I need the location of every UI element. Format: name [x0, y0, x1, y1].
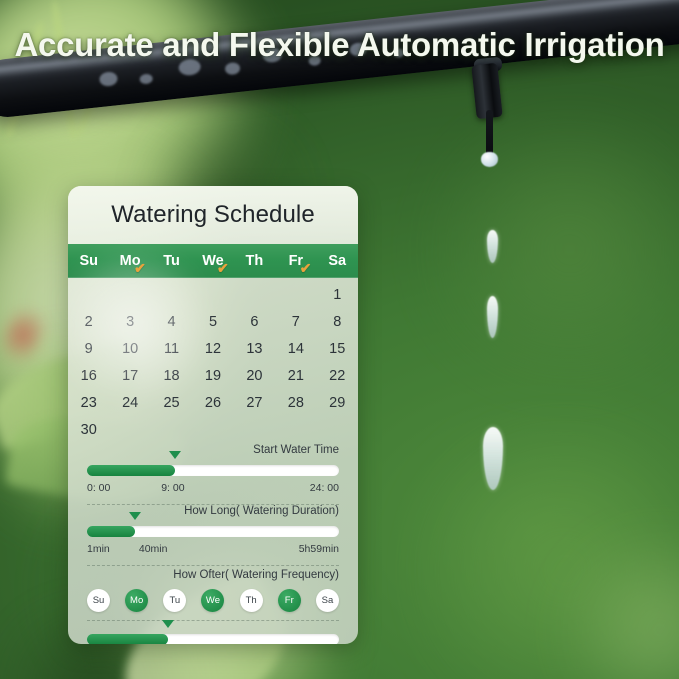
screenshot-root: Accurate and Flexible Automatic Irrigati… [0, 0, 679, 679]
calendar-day-empty [151, 417, 192, 444]
calendar-day[interactable]: 17 [109, 363, 150, 390]
watering-duration-label: How Long( Watering Duration) [87, 505, 339, 519]
calendar-day[interactable]: 6 [234, 309, 275, 336]
weekday-cell[interactable]: Sa [317, 244, 358, 278]
weekday-cell[interactable]: Tu [151, 244, 192, 278]
foliage-blur-8 [420, 120, 679, 380]
calendar-day-empty [234, 417, 275, 444]
dripper-stem [486, 110, 493, 158]
calendar-day[interactable]: 14 [275, 336, 316, 363]
slider-track[interactable] [87, 634, 339, 644]
calendar-row: 16171819202122 [68, 363, 358, 390]
check-icon: ✔ [300, 260, 312, 277]
tick-value: 40min [139, 543, 168, 555]
start-water-time-slider[interactable] [87, 460, 339, 482]
calendar-day-empty [109, 282, 150, 309]
calendar-day[interactable]: 24 [109, 390, 150, 417]
watering-interval-section: Every 1 Day Every 2 Days Every 7 Days [68, 621, 358, 644]
weekday-label: Tu [163, 253, 180, 269]
calendar-day[interactable]: 15 [317, 336, 358, 363]
card-title: Watering Schedule [111, 201, 315, 229]
calendar-day[interactable]: 23 [68, 390, 109, 417]
frequency-day-mo[interactable]: Mo [125, 589, 148, 612]
weekday-cell[interactable]: Mo✔ [109, 244, 150, 278]
tick-value: 9: 00 [161, 482, 184, 494]
watering-interval-slider[interactable] [87, 629, 339, 644]
slider-track[interactable] [87, 465, 339, 476]
calendar-row: 30 [68, 417, 358, 444]
watering-schedule-card: Watering Schedule SuMo✔TuWe✔ThFr✔Sa 1234… [68, 186, 358, 644]
section-divider [87, 565, 339, 566]
start-water-time-ticks: 0: 00 9: 00 24: 00 [87, 482, 339, 498]
card-header: Watering Schedule [68, 186, 358, 244]
calendar-day-empty [192, 417, 233, 444]
weekday-cell[interactable]: We✔ [192, 244, 233, 278]
calendar-row: 2345678 [68, 309, 358, 336]
frequency-day-tu[interactable]: Tu [163, 589, 186, 612]
watering-duration-ticks: 1min 40min 5h59min [87, 543, 339, 559]
weekday-cell[interactable]: Su [68, 244, 109, 278]
calendar-day-empty [275, 417, 316, 444]
calendar-day[interactable]: 8 [317, 309, 358, 336]
slider-marker-icon[interactable] [129, 512, 141, 520]
weekday-label: Sa [328, 253, 346, 269]
calendar-day[interactable]: 27 [234, 390, 275, 417]
tick-max: 5h59min [299, 543, 339, 555]
calendar-day[interactable]: 5 [192, 309, 233, 336]
calendar-day[interactable]: 13 [234, 336, 275, 363]
slider-track[interactable] [87, 526, 339, 537]
calendar-day-empty [234, 282, 275, 309]
calendar-row: 1 [68, 282, 358, 309]
slider-fill [87, 634, 168, 644]
calendar-day[interactable]: 10 [109, 336, 150, 363]
calendar-row: 9101112131415 [68, 336, 358, 363]
calendar-row: 23242526272829 [68, 390, 358, 417]
frequency-day-we[interactable]: We [201, 589, 224, 612]
calendar-day[interactable]: 9 [68, 336, 109, 363]
calendar-day[interactable]: 29 [317, 390, 358, 417]
frequency-day-fr[interactable]: Fr [278, 589, 301, 612]
slider-marker-icon[interactable] [162, 620, 174, 628]
watering-frequency-label: How Ofter( Watering Frequency) [87, 569, 339, 583]
weekday-cell[interactable]: Th [234, 244, 275, 278]
slider-fill [87, 465, 175, 476]
calendar-day[interactable]: 4 [151, 309, 192, 336]
calendar-day[interactable]: 16 [68, 363, 109, 390]
calendar-day[interactable]: 25 [151, 390, 192, 417]
watering-duration-slider[interactable] [87, 521, 339, 543]
calendar-day[interactable]: 30 [68, 417, 109, 444]
calendar-day[interactable]: 12 [192, 336, 233, 363]
calendar-day[interactable]: 11 [151, 336, 192, 363]
calendar-day-empty [151, 282, 192, 309]
calendar-day[interactable]: 28 [275, 390, 316, 417]
calendar-day-empty [317, 417, 358, 444]
calendar-day-empty [109, 417, 150, 444]
calendar-day[interactable]: 20 [234, 363, 275, 390]
tick-max: 24: 00 [310, 482, 339, 494]
calendar-day-empty [275, 282, 316, 309]
calendar-day[interactable]: 1 [317, 282, 358, 309]
calendar-day[interactable]: 22 [317, 363, 358, 390]
calendar-day[interactable]: 26 [192, 390, 233, 417]
tick-min: 1min [87, 543, 110, 555]
banner-title: Accurate and Flexible Automatic Irrigati… [0, 26, 679, 64]
weekday-header-bar: SuMo✔TuWe✔ThFr✔Sa [68, 244, 358, 278]
hanging-water-drop [481, 152, 498, 167]
check-icon: ✔ [217, 260, 229, 277]
weekday-cell[interactable]: Fr✔ [275, 244, 316, 278]
start-water-time-section: Start Water Time 0: 00 9: 00 24: 00 [68, 444, 358, 498]
calendar-day[interactable]: 19 [192, 363, 233, 390]
slider-marker-icon[interactable] [169, 451, 181, 459]
check-icon: ✔ [134, 260, 146, 277]
watering-frequency-section: How Ofter( Watering Frequency) [68, 569, 358, 583]
slider-fill [87, 526, 135, 537]
water-bead [139, 73, 153, 84]
calendar-day-empty [68, 282, 109, 309]
calendar-day[interactable]: 21 [275, 363, 316, 390]
calendar-day-empty [192, 282, 233, 309]
frequency-day-su[interactable]: Su [87, 589, 110, 612]
calendar-grid: 1234567891011121314151617181920212223242… [68, 278, 358, 444]
calendar-day[interactable]: 2 [68, 309, 109, 336]
watering-duration-section: How Long( Watering Duration) 1min 40min … [68, 505, 358, 559]
weekday-label: Th [246, 253, 264, 269]
calendar-day[interactable]: 18 [151, 363, 192, 390]
tick-min: 0: 00 [87, 482, 110, 494]
start-water-time-label: Start Water Time [87, 444, 339, 458]
frequency-day-selector: SuMoTuWeThFrSa [68, 585, 358, 612]
weekday-label: Su [79, 253, 98, 269]
frequency-day-sa[interactable]: Sa [316, 589, 339, 612]
water-bead [99, 71, 118, 87]
calendar-day[interactable]: 7 [275, 309, 316, 336]
frequency-day-th[interactable]: Th [240, 589, 263, 612]
calendar-day[interactable]: 3 [109, 309, 150, 336]
